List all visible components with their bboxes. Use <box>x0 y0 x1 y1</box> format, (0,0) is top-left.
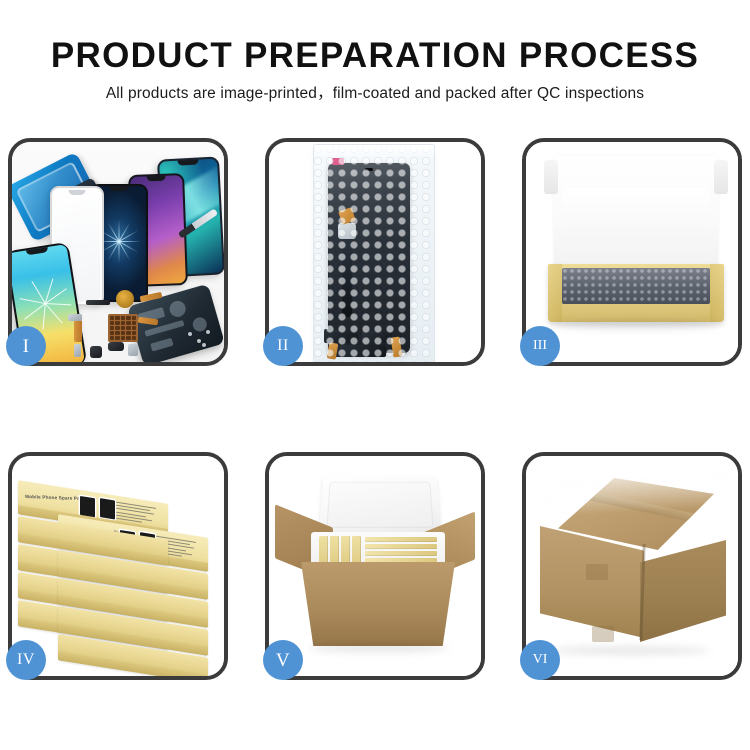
sim-tray-part-graphic <box>74 344 81 357</box>
step-panel-3[interactable]: III <box>522 138 742 366</box>
screws-graphic <box>188 330 214 348</box>
step-badge-4: IV <box>6 640 46 680</box>
step-panel-4[interactable]: Mobile Phone Spare Parts Mobil <box>8 452 228 680</box>
speaker-part-graphic <box>116 290 134 308</box>
step-1-image <box>12 142 224 362</box>
sealed-carton-graphic <box>540 478 726 648</box>
step-4-image: Mobile Phone Spare Parts Mobil <box>12 456 224 676</box>
shield-part-graphic <box>128 344 138 356</box>
step-panel-6[interactable]: VI <box>522 452 742 680</box>
carton-side-face <box>640 540 726 642</box>
carton-body-graphic <box>301 562 455 646</box>
foam-sheet-graphic <box>562 188 710 264</box>
steps-grid: I <box>0 0 750 750</box>
bag-seal-graphic <box>314 145 434 157</box>
flex-cable-part-graphic-2 <box>74 320 82 342</box>
foam-lid-open-graphic <box>319 476 442 536</box>
step-6-image <box>526 456 738 676</box>
box-stack-graphic: Mobile Phone Spare Parts Mobil <box>18 474 224 666</box>
step-badge-6: VI <box>520 640 560 680</box>
step-badge-3: III <box>520 326 560 366</box>
bubble-wrap-bag-graphic <box>313 144 435 362</box>
bracket-part-graphic <box>86 300 110 305</box>
step-badge-2: II <box>263 326 303 366</box>
vibrator-part-graphic <box>90 346 102 358</box>
step-5-image <box>269 456 481 676</box>
camera-part-graphic <box>108 342 124 351</box>
product-preparation-infographic: PRODUCT PREPARATION PROCESS All products… <box>0 0 750 750</box>
step-panel-1[interactable]: I <box>8 138 228 366</box>
step-panel-5[interactable]: V <box>265 452 485 680</box>
chip-array-part-graphic <box>108 314 138 342</box>
bubble-wrapped-contents-graphic <box>562 268 710 304</box>
carton-wrap-highlight <box>535 467 733 517</box>
connector-part-graphic <box>68 314 82 321</box>
yellow-inner-box-graphic <box>548 264 724 322</box>
step-3-image <box>526 142 738 362</box>
step-panel-2[interactable]: II <box>265 138 485 366</box>
box-label-text: Mobile Phone Spare Parts <box>25 494 87 501</box>
step-badge-5: V <box>263 640 303 680</box>
step-2-image <box>269 142 481 362</box>
step-badge-1: I <box>6 326 46 366</box>
bubble-texture <box>314 145 434 362</box>
